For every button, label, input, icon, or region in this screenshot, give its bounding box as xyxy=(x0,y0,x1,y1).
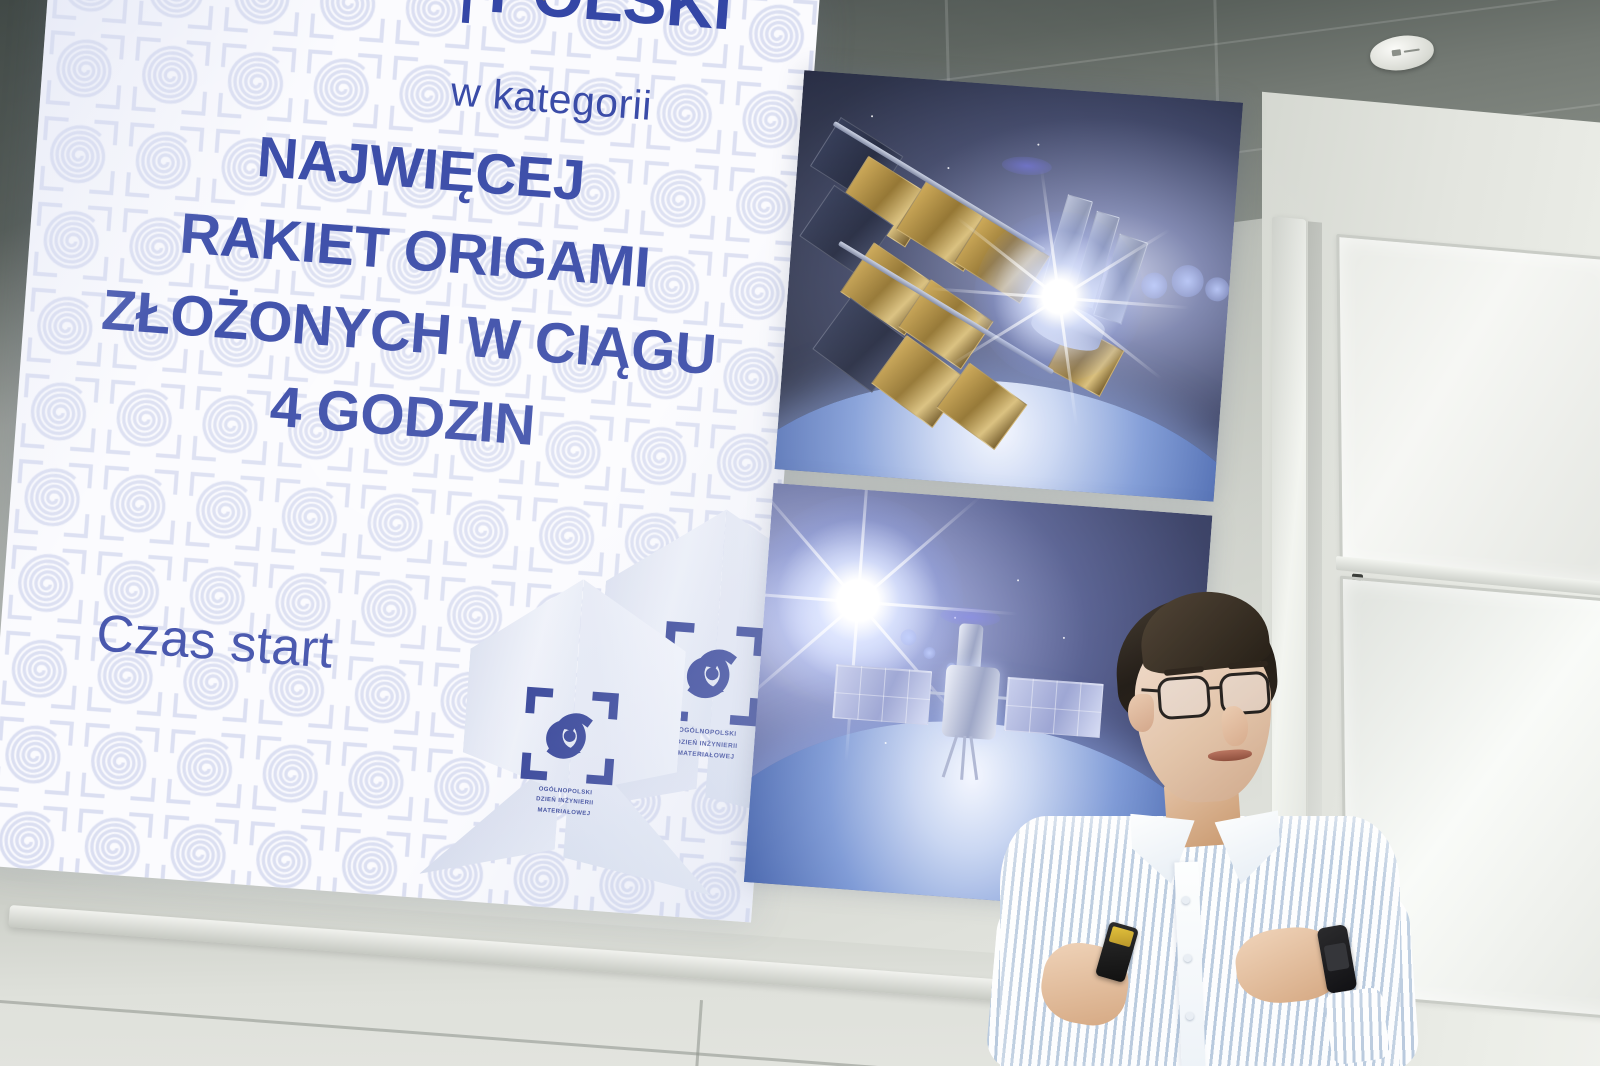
odim-logo-icon xyxy=(517,683,623,789)
presenter xyxy=(990,598,1420,1066)
shirt-cuff xyxy=(1323,986,1390,1065)
whiteboard-upper xyxy=(1336,234,1600,588)
odim-logo: OGÓLNOPOLSKI DZIEŃ INŻYNIERII MATERIAŁOW… xyxy=(514,683,622,820)
glasses-lens-left xyxy=(1157,675,1212,721)
space-station-image xyxy=(775,70,1243,502)
slide-panel: REKORD POLSKI w kategorii NAJWIĘCEJ RAKI… xyxy=(0,0,820,923)
presenter-ear xyxy=(1128,694,1154,732)
presentation-photo-scene: REKORD POLSKI w kategorii NAJWIĘCEJ RAKI… xyxy=(0,0,1600,1066)
satellite-solar-panel-left xyxy=(832,664,932,725)
glasses-icon xyxy=(1157,670,1284,723)
origami-rocket-left: OGÓLNOPOLSKI DZIEŃ INŻYNIERII MATERIAŁOW… xyxy=(454,571,691,886)
